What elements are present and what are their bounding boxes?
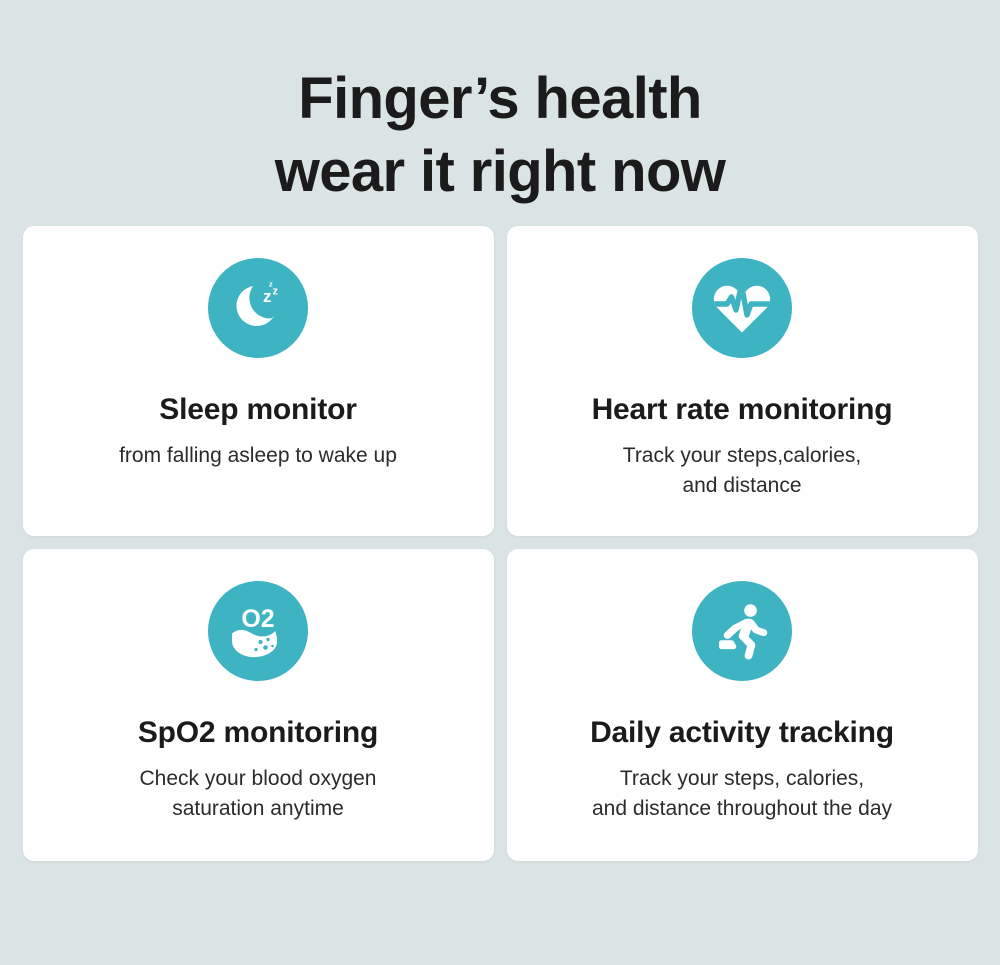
svg-text:z: z [273, 286, 279, 298]
feature-card-heart-rate-monitoring[interactable]: Heart rate monitoring Track your steps,c… [507, 226, 978, 536]
svg-text:z: z [269, 280, 273, 289]
feature-card-title: Daily activity tracking [590, 715, 894, 751]
page-title-line-2: wear it right now [0, 135, 1000, 208]
feature-card-title: Heart rate monitoring [592, 392, 893, 428]
heart-pulse-icon [692, 258, 792, 358]
feature-card-description: from falling asleep to wake up [103, 441, 413, 471]
feature-card-description-line-1: Track your steps,calories, [623, 444, 861, 467]
feature-card-description: Check your blood oxygen saturation anyti… [124, 764, 393, 824]
feature-card-title: SpO2 monitoring [138, 715, 378, 751]
running-person-icon [692, 581, 792, 681]
feature-card-title: Sleep monitor [159, 392, 356, 428]
feature-card-description-line-2: and distance [623, 471, 861, 501]
feature-card-description: Track your steps, calories, and distance… [576, 764, 908, 824]
page-title-line-1: Finger’s health [0, 62, 1000, 135]
page-title: Finger’s health wear it right now [0, 0, 1000, 226]
feature-card-description-line-2: saturation anytime [140, 794, 377, 824]
feature-card-daily-activity-tracking[interactable]: Daily activity tracking Track your steps… [507, 549, 978, 861]
svg-text:z: z [263, 287, 272, 306]
feature-card-description-line-2: and distance throughout the day [592, 794, 892, 824]
feature-card-description: Track your steps,calories, and distance [607, 441, 877, 501]
feature-card-grid: z z z Sleep monitor from falling asleep … [0, 226, 1000, 965]
feature-card-description-line-1: Track your steps, calories, [620, 767, 864, 790]
feature-highlight-page: Finger’s health wear it right now z z z … [0, 0, 1000, 965]
blood-oxygen-o2-icon: O2 [208, 581, 308, 681]
feature-card-spo2-monitoring[interactable]: O2 SpO2 monitoring Check your blood oxyg… [23, 549, 494, 861]
svg-text:O2: O2 [241, 605, 274, 633]
feature-card-sleep-monitor[interactable]: z z z Sleep monitor from falling asleep … [23, 226, 494, 536]
feature-card-description-line-1: from falling asleep to wake up [119, 444, 397, 467]
feature-card-description-line-1: Check your blood oxygen [140, 767, 377, 790]
moon-sleep-icon: z z z [208, 258, 308, 358]
